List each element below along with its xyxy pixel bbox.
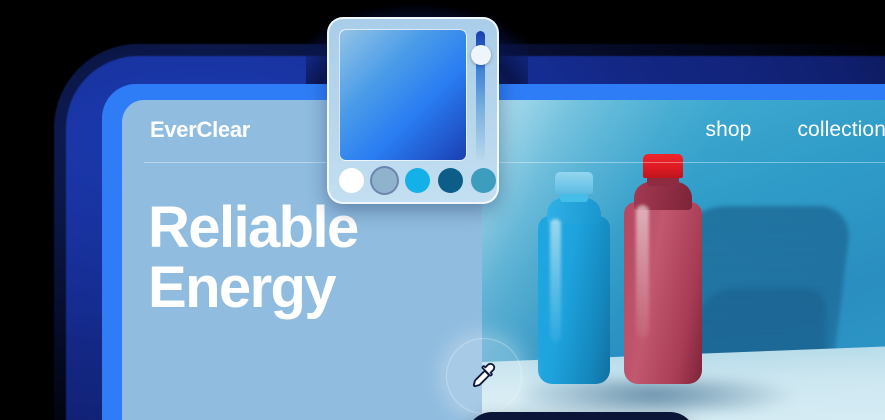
saturation-value-field[interactable] (339, 29, 467, 161)
bottle-blue-highlight (550, 219, 562, 342)
swatch-steel-blue[interactable] (372, 168, 397, 193)
nav-links: shop collection (705, 118, 885, 142)
eyedropper-icon (469, 361, 499, 391)
bottle-blue-cap (555, 172, 592, 194)
color-contrast-pill[interactable]: Color contrast (466, 412, 696, 420)
screenshot-stage: EverClear shop collection Reliable Energ… (0, 0, 885, 420)
website-page: EverClear shop collection Reliable Energ… (122, 100, 885, 420)
swatch-cyan[interactable] (405, 168, 430, 193)
swatch-teal[interactable] (471, 168, 496, 193)
brand-logo[interactable]: EverClear (150, 117, 250, 143)
nav-divider (144, 162, 885, 163)
site-navbar: EverClear shop collection (122, 100, 885, 162)
color-picker-panel[interactable] (327, 17, 499, 204)
bottle-blue-body (538, 216, 610, 384)
color-swatch-row (339, 168, 496, 193)
eyedropper-button[interactable] (446, 338, 522, 414)
hue-slider-handle[interactable] (471, 45, 491, 65)
hero-headline: Reliable Energy (148, 198, 358, 318)
bottle-red-highlight (636, 205, 648, 338)
swatch-white[interactable] (339, 168, 364, 193)
nav-link-shop[interactable]: shop (705, 118, 751, 142)
bottle-red (624, 154, 702, 384)
bottle-blue (538, 172, 610, 384)
nav-link-collection[interactable]: collection (797, 118, 885, 142)
swatch-deep-teal[interactable] (438, 168, 463, 193)
